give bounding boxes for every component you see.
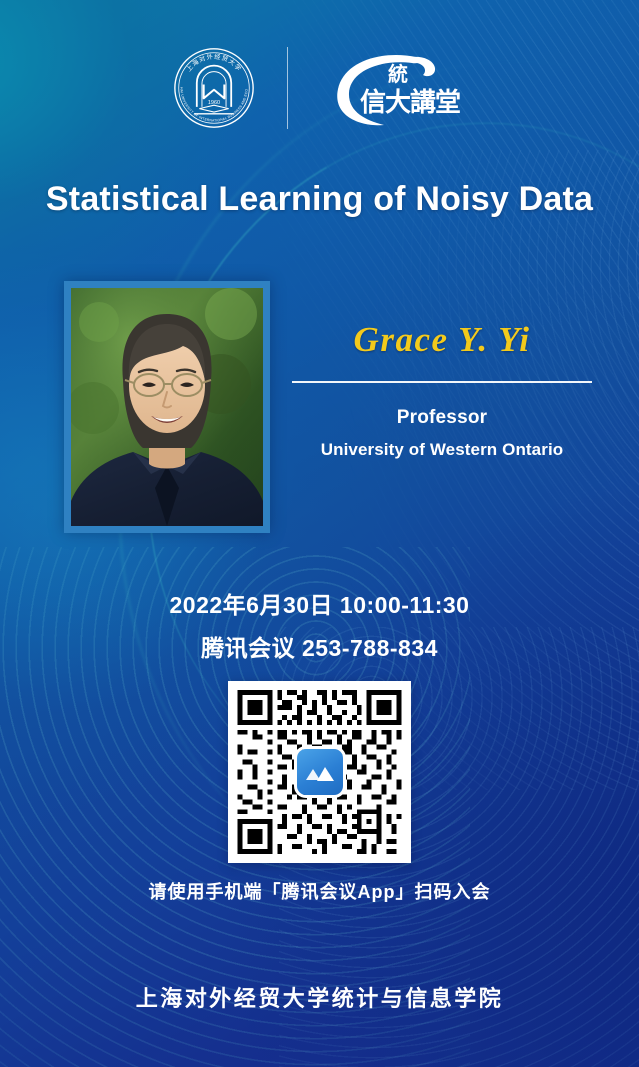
svg-text:上海对外经贸大学: 上海对外经贸大学: [185, 53, 243, 74]
svg-text:統: 統: [388, 62, 408, 86]
header-logos: 上海对外经贸大学 SHANGHAI UNIVERSITY OF INTERNAT…: [0, 38, 639, 138]
voov-meeting-logo-icon: [297, 749, 343, 795]
qr-matrix: [237, 690, 402, 854]
logo-divider: [287, 47, 288, 129]
qr-code[interactable]: [228, 681, 411, 863]
speaker-title: Professor: [288, 407, 596, 429]
brush-circle-logo-icon: 統 信大講堂: [318, 45, 468, 131]
speaker-info: Grace Y. Yi Professor University of West…: [288, 320, 596, 460]
svg-text:信大講堂: 信大講堂: [360, 87, 460, 117]
speaker-name: Grace Y. Yi: [288, 320, 596, 360]
event-datetime: 2022年6月30日 10:00-11:30: [0, 586, 639, 620]
seminar-poster: 上海对外经贸大学 SHANGHAI UNIVERSITY OF INTERNAT…: [0, 0, 639, 1067]
speaker-affiliation: University of Western Ontario: [288, 440, 596, 460]
event-meeting-id: 腾讯会议 253-788-834: [0, 629, 639, 663]
speaker-divider: [292, 381, 592, 383]
speaker-portrait: [64, 281, 270, 533]
page-title: Statistical Learning of Noisy Data: [0, 180, 639, 219]
qr-caption: 请使用手机端「腾讯会议App」扫码入会: [0, 878, 639, 904]
university-seal-icon: 上海对外经贸大学 SHANGHAI UNIVERSITY OF INTERNAT…: [171, 45, 257, 131]
footer-organizer: 上海对外经贸大学统计与信息学院: [0, 981, 639, 1013]
